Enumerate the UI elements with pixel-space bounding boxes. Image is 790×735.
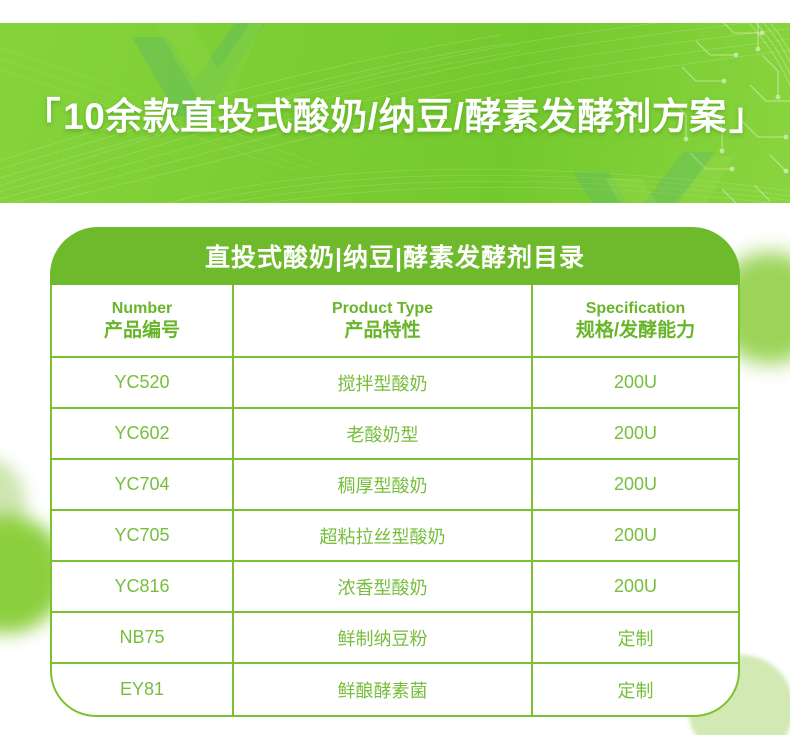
column-header-specification-zh: 规格/发酵能力 (576, 319, 695, 342)
cell-number: YC816 (52, 562, 234, 611)
column-header-product-type-en: Product Type (332, 299, 433, 319)
cell-number: YC520 (52, 358, 234, 407)
table-caption-text: 直投式酸奶|纳豆|酵素发酵剂目录 (205, 238, 585, 274)
table-row: YC704 稠厚型酸奶 200U (52, 460, 738, 511)
cell-specification: 定制 (533, 613, 738, 662)
cell-specification: 200U (533, 460, 738, 509)
column-header-product-type-zh: 产品特性 (344, 319, 420, 342)
cell-number: YC704 (52, 460, 234, 509)
table-row: NB75 鲜制纳豆粉 定制 (52, 613, 738, 664)
cell-specification: 200U (533, 358, 738, 407)
bracket-open: 「 (24, 86, 62, 140)
page-title: 「10余款直投式酸奶/纳豆/酵素发酵剂方案」 (0, 86, 790, 140)
table-row: YC816 浓香型酸奶 200U (52, 562, 738, 613)
checkmark-shape-secondary-icon (565, 148, 735, 203)
cell-product-type: 稠厚型酸奶 (234, 460, 533, 509)
product-table: 直投式酸奶|纳豆|酵素发酵剂目录 Number 产品编号 Product Typ… (50, 227, 740, 717)
cell-product-type: 老酸奶型 (234, 409, 533, 458)
column-header-number-en: Number (112, 299, 172, 319)
column-header-specification-en: Specification (586, 299, 686, 319)
cell-specification: 200U (533, 409, 738, 458)
cell-number: EY81 (52, 664, 234, 715)
table-row: YC602 老酸奶型 200U (52, 409, 738, 460)
cell-product-type: 搅拌型酸奶 (234, 358, 533, 407)
column-header-number-zh: 产品编号 (104, 319, 180, 342)
cell-number: YC705 (52, 511, 234, 560)
column-header-product-type: Product Type 产品特性 (234, 285, 533, 356)
cell-product-type: 鲜酿酵素菌 (234, 664, 533, 715)
page-root: 「10余款直投式酸奶/纳豆/酵素发酵剂方案」 直投式酸奶|纳豆|酵素发酵剂目录 … (0, 0, 790, 735)
table-row: EY81 鲜酿酵素菌 定制 (52, 664, 738, 715)
cell-product-type: 超粘拉丝型酸奶 (234, 511, 533, 560)
cell-specification: 定制 (533, 664, 738, 715)
table-header-row: Number 产品编号 Product Type 产品特性 Specificat… (52, 285, 738, 358)
table-caption: 直投式酸奶|纳豆|酵素发酵剂目录 (50, 227, 740, 285)
bracket-close: 」 (729, 86, 767, 140)
cell-number: NB75 (52, 613, 234, 662)
header-banner: 「10余款直投式酸奶/纳豆/酵素发酵剂方案」 (0, 23, 790, 203)
cell-specification: 200U (533, 562, 738, 611)
cell-specification: 200U (533, 511, 738, 560)
table-body: Number 产品编号 Product Type 产品特性 Specificat… (50, 285, 740, 717)
page-title-text: 10余款直投式酸奶/纳豆/酵素发酵剂方案 (63, 96, 727, 137)
table-row: YC520 搅拌型酸奶 200U (52, 358, 738, 409)
column-header-number: Number 产品编号 (52, 285, 234, 356)
column-header-specification: Specification 规格/发酵能力 (533, 285, 738, 356)
cell-product-type: 浓香型酸奶 (234, 562, 533, 611)
table-row: YC705 超粘拉丝型酸奶 200U (52, 511, 738, 562)
cell-product-type: 鲜制纳豆粉 (234, 613, 533, 662)
cell-number: YC602 (52, 409, 234, 458)
